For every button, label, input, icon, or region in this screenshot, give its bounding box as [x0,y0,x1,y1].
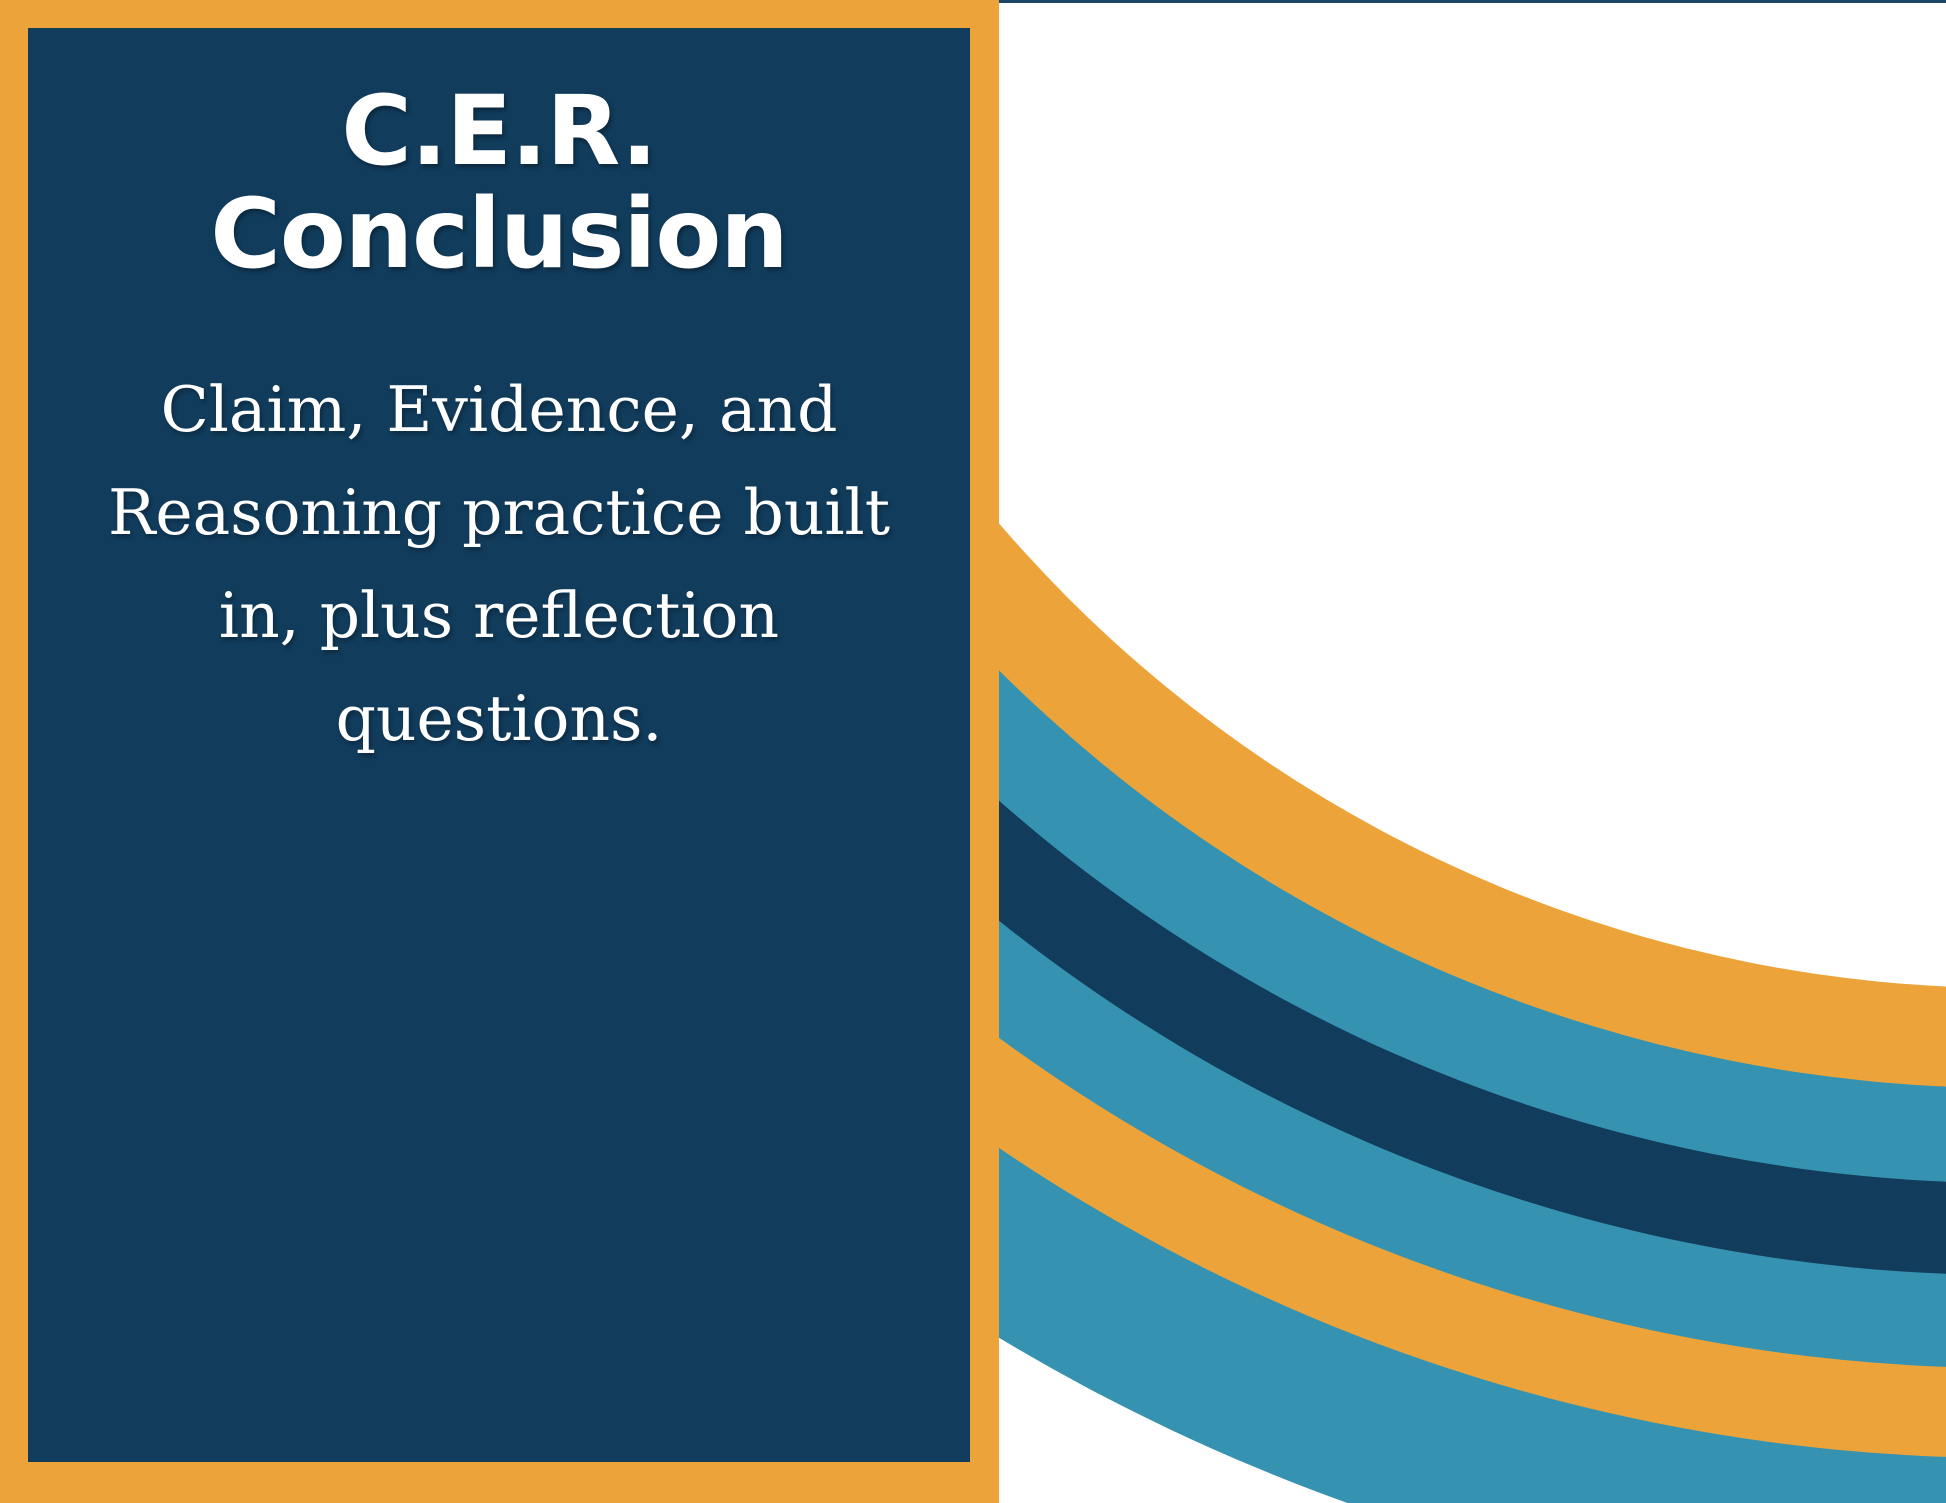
section-heading-claim: Claim: [1079,81,1208,122]
evidence-initial: E [1079,308,1104,349]
reasoning-colon: : [1293,581,1305,622]
evidence-colon: : [1263,308,1278,349]
list-item: 1. Based on what think everyor [1079,973,1395,1069]
document-preview[interactable]: structure of DNA, and w Claim: Evidence:… [999,0,1946,1503]
slide-canvas: C.E.R. Conclusion Claim, Evidence, and R… [0,0,1946,1503]
list-item-text: Draw [1143,1225,1232,1273]
left-slide-frame: C.E.R. Conclusion Claim, Evidence, and R… [0,0,999,1503]
reasoning-initial: R [1079,581,1107,622]
claim-rest: laim [1106,81,1193,122]
list-item-number: 2. [1079,1225,1143,1273]
page-title: C.E.R. Conclusion [210,80,787,285]
claim-initial: C [1079,81,1106,122]
section-heading-evidence: Evidence: [1079,308,1277,349]
list-item-text: Based on what think everyor [1143,973,1395,1069]
document-intro-line: structure of DNA, and w [1079,3,1503,55]
left-slide-panel: C.E.R. Conclusion Claim, Evidence, and R… [28,28,970,1462]
list-item-number: 1. [1079,973,1143,1069]
section-heading-reasoning: Reasoning: [1079,581,1305,622]
slide-subtitle: Claim, Evidence, and Reasoning practice … [88,359,910,770]
reasoning-rest: easoning [1107,581,1293,622]
reflection-questions-heading: Reflection Questi [1079,896,1444,939]
document-body: structure of DNA, and w Claim: Evidence:… [999,3,1946,1503]
claim-colon: : [1193,81,1208,122]
list-item: 2. Draw [1079,1225,1232,1273]
evidence-rest: vidence [1104,308,1263,349]
